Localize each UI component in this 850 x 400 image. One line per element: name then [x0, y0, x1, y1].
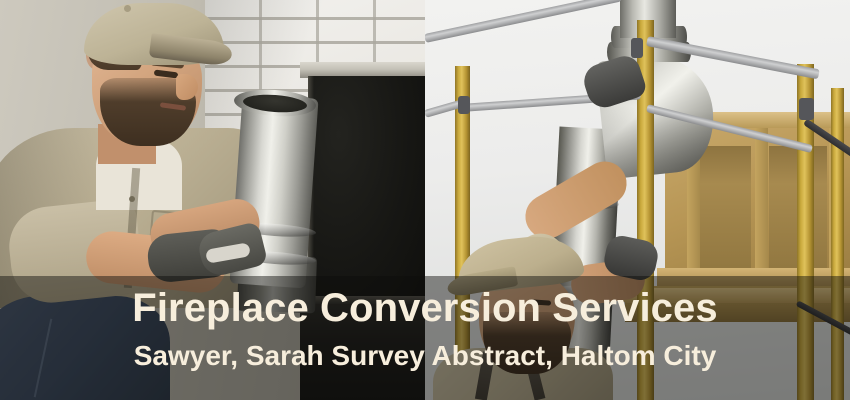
- page-subtitle: Sawyer, Sarah Survey Abstract, Haltom Ci…: [0, 342, 850, 370]
- scaffold-clamp: [458, 96, 470, 114]
- banner-caption: Fireplace Conversion Services Sawyer, Sa…: [0, 288, 850, 370]
- frame-cavity: [697, 146, 751, 272]
- cap-button: [124, 5, 131, 12]
- service-banner: Fireplace Conversion Services Sawyer, Sa…: [0, 0, 850, 400]
- page-title: Fireplace Conversion Services: [0, 288, 850, 328]
- shirt-button: [129, 196, 135, 202]
- scaffold-clamp: [631, 38, 643, 58]
- frame-stud: [755, 128, 768, 278]
- scaffold-clamp: [799, 98, 814, 120]
